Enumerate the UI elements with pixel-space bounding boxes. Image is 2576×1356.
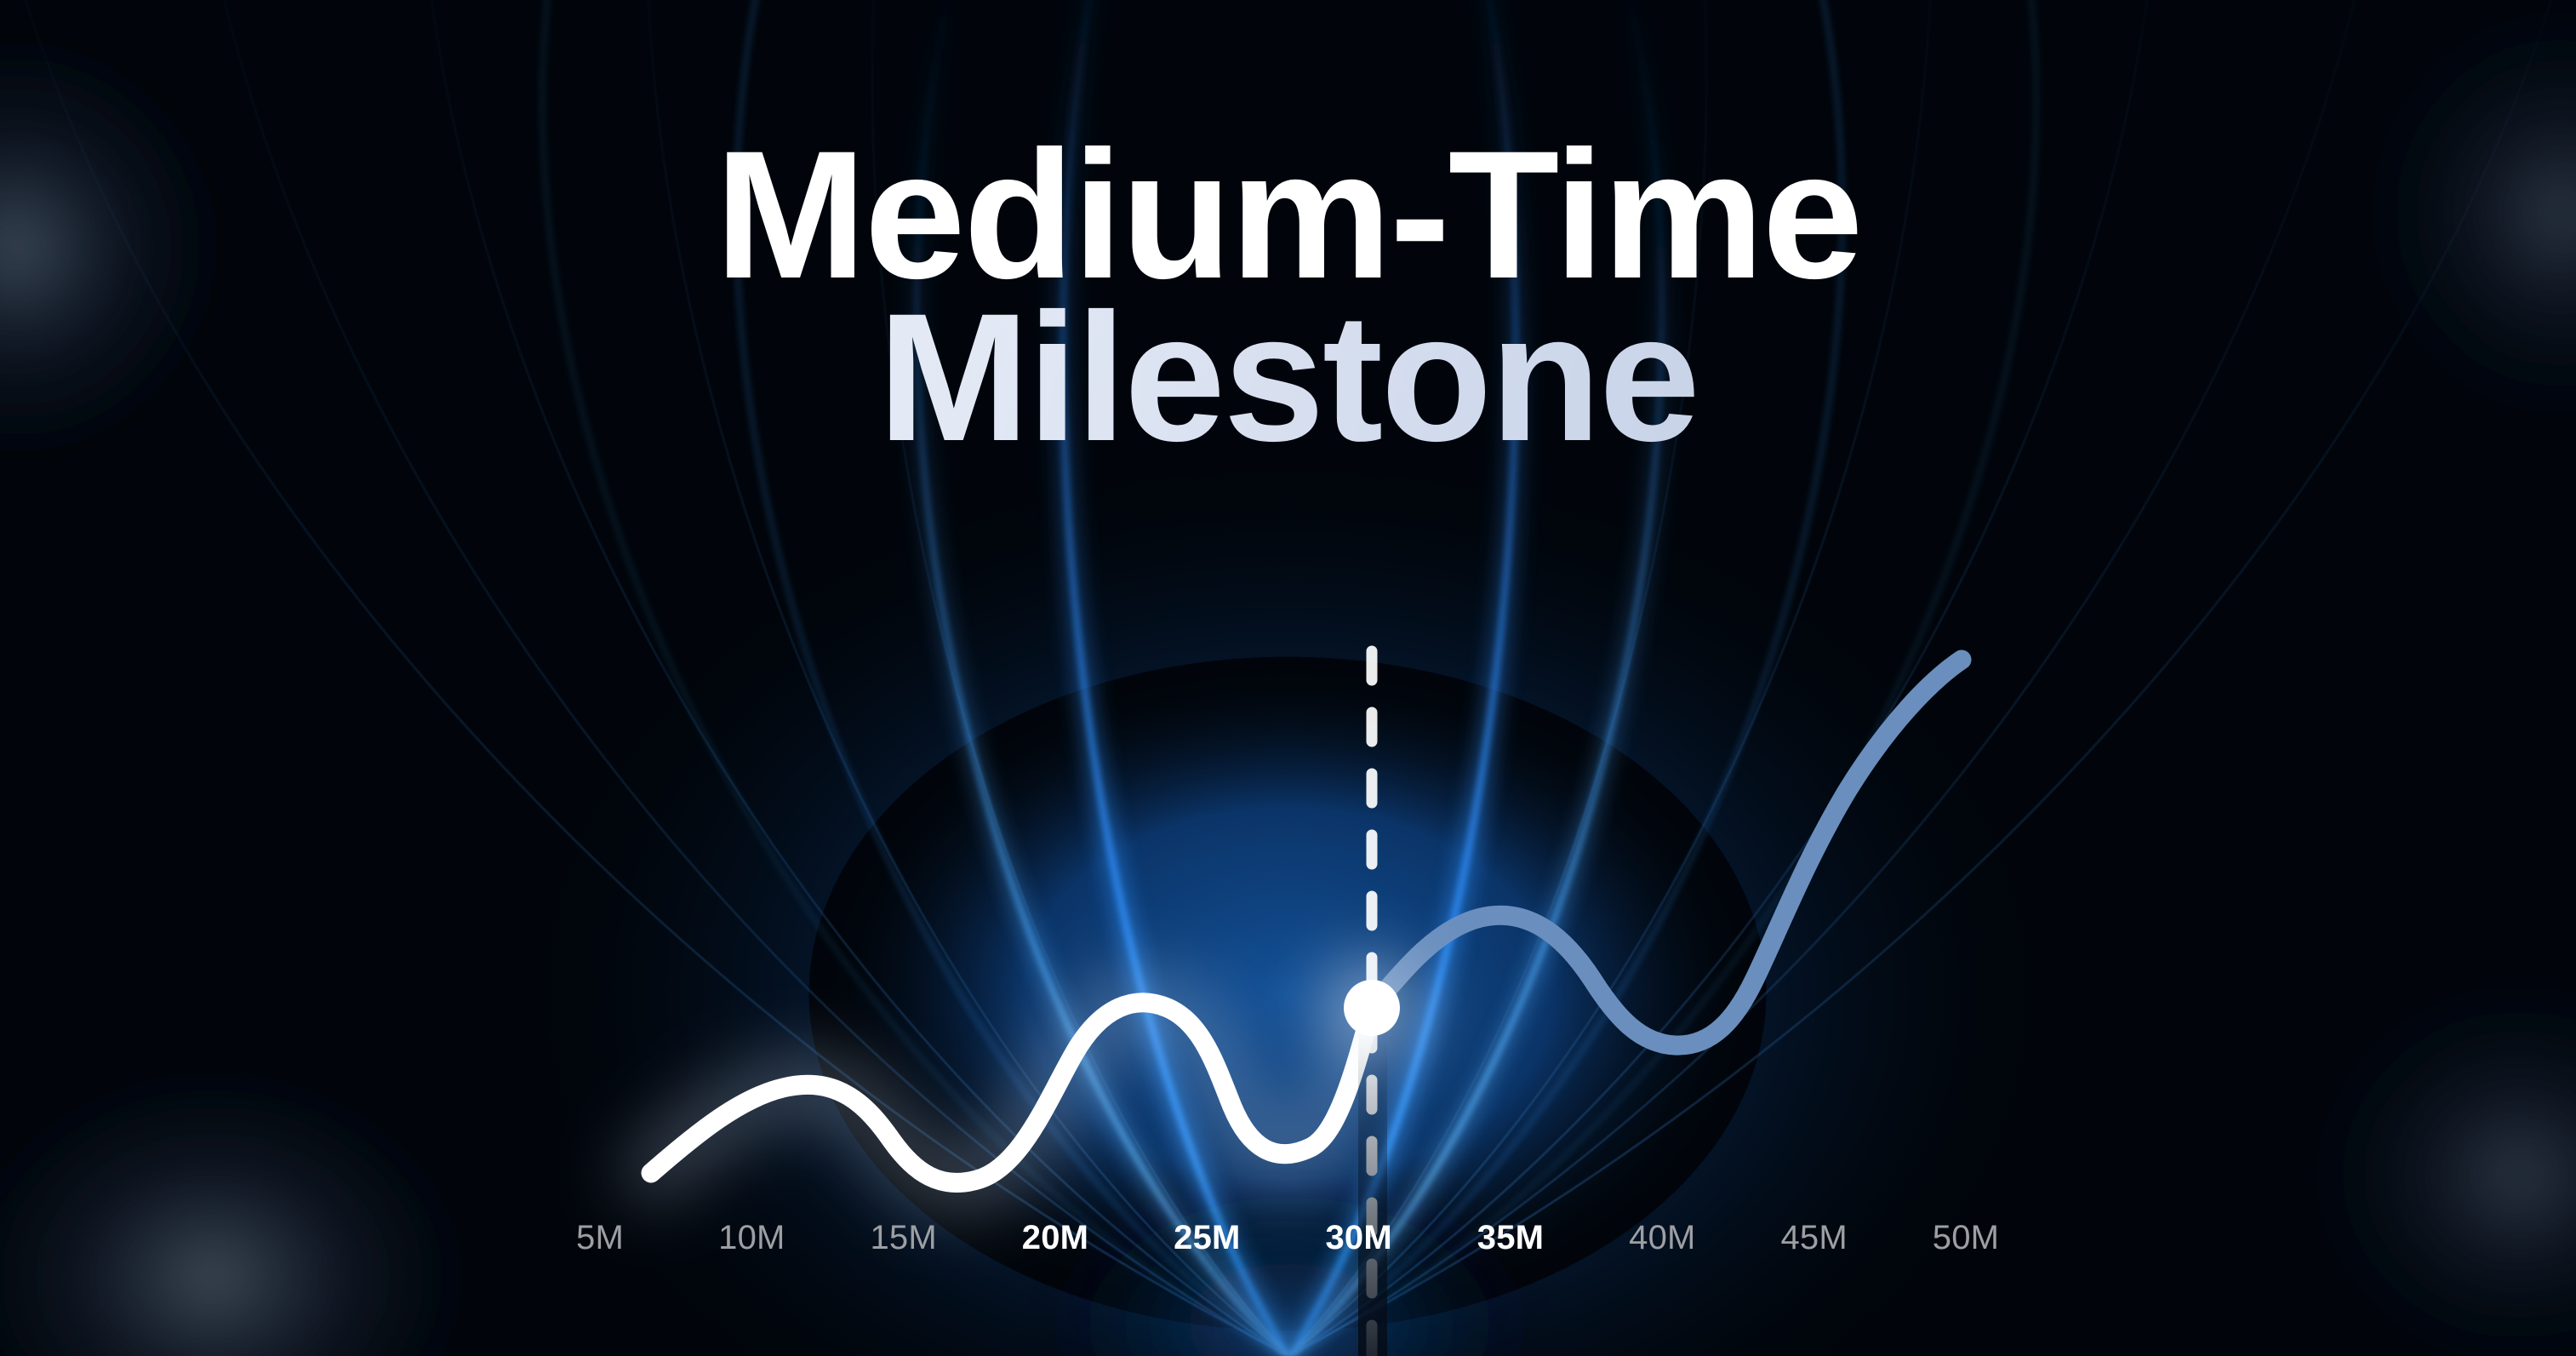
- x-axis-tick-row: 5M10M15M20M25M30M35M40M45M50M: [0, 1210, 2576, 1265]
- milestone-chart: [0, 0, 2576, 1356]
- x-axis-tick-40m[interactable]: 40M: [1629, 1210, 1695, 1265]
- x-axis-tick-35m[interactable]: 35M: [1477, 1210, 1544, 1265]
- x-axis-tick-25m[interactable]: 25M: [1174, 1210, 1240, 1265]
- x-axis-tick-10m[interactable]: 10M: [718, 1210, 785, 1265]
- x-axis-tick-30m[interactable]: 30M: [1325, 1210, 1391, 1265]
- poster-canvas: Medium-Time Milestone: [0, 0, 2576, 1356]
- progress-to-date-line: [651, 1003, 1372, 1183]
- x-axis-tick-45m[interactable]: 45M: [1780, 1210, 1847, 1265]
- x-axis-tick-5m[interactable]: 5M: [576, 1210, 624, 1265]
- projected-trajectory-line: [1372, 660, 1962, 1045]
- x-axis-tick-15m[interactable]: 15M: [870, 1210, 936, 1265]
- x-axis-tick-20m[interactable]: 20M: [1022, 1210, 1088, 1265]
- milestone-guide-fade: [1358, 1030, 1387, 1356]
- x-axis-tick-50m[interactable]: 50M: [1933, 1210, 1999, 1265]
- milestone-marker-dot[interactable]: [1344, 980, 1400, 1036]
